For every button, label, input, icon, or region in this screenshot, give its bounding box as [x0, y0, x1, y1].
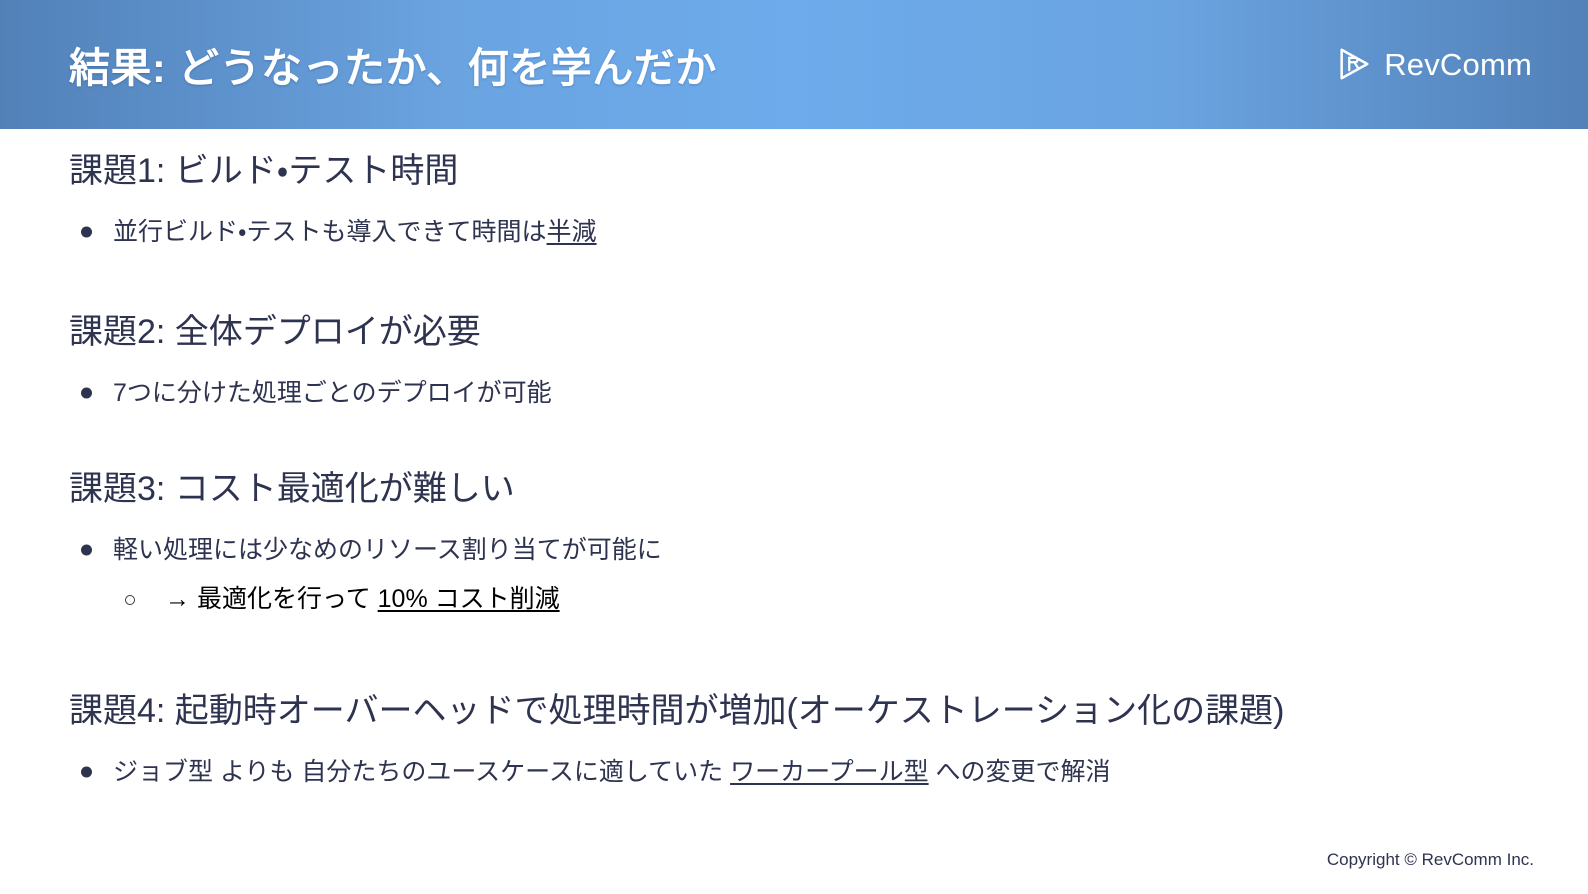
revcomm-play-triangle-icon — [1335, 45, 1373, 83]
bullet-disc-icon — [81, 227, 92, 238]
bullet-text-plain: ジョブ型 よりも 自分たちのユースケースに適していた — [113, 758, 730, 786]
bullet-text-plain: 並行ビルド・テストも導入できて時間は — [113, 218, 547, 246]
section-kadai-1: 課題1: ビルド・テスト時間 並行ビルド・テストも導入できて時間は半減 — [69, 150, 1559, 249]
bullet-disc-icon — [81, 545, 92, 556]
presentation-slide: 結果: どうなったか、何を学んだか RevComm 課題1: ビルド・テスト時間… — [0, 0, 1588, 894]
bullet-list: ジョブ型 よりも 自分たちのユースケースに適していた ワーカープール型 への変更… — [69, 756, 1559, 790]
sub-bullet-text-plain: → 最適化を行って — [165, 585, 378, 613]
bullet-text-plain-tail: への変更で解消 — [929, 758, 1111, 786]
bullet-disc-icon — [81, 767, 92, 778]
list-item: 軽い処理には少なめのリソース割り当てが可能に — [69, 534, 1559, 568]
bullet-text-plain: 7つに分けた処理ごとのデプロイが可能 — [113, 379, 552, 407]
section-kadai-4: 課題4: 起動時オーバーヘッドで処理時間が増加(オーケストレーション化の課題) … — [69, 690, 1559, 789]
bullet-text-underlined: 半減 — [547, 218, 597, 246]
list-item: 並行ビルド・テストも導入できて時間は半減 — [69, 216, 1559, 250]
section-heading: 課題4: 起動時オーバーヘッドで処理時間が増加(オーケストレーション化の課題) — [69, 690, 1559, 733]
copyright-footer: Copyright © RevComm Inc. — [1327, 850, 1534, 870]
section-heading: 課題1: ビルド・テスト時間 — [69, 150, 1559, 193]
bullet-text-underlined: ワーカープール型 — [730, 758, 929, 786]
revcomm-logo: RevComm — [1335, 42, 1532, 86]
revcomm-logo-text: RevComm — [1384, 49, 1532, 80]
bullet-disc-icon — [81, 388, 92, 399]
section-kadai-3: 課題3: コスト最適化が難しい 軽い処理には少なめのリソース割り当てが可能に →… — [69, 468, 1559, 617]
slide-body: 課題1: ビルド・テスト時間 並行ビルド・テストも導入できて時間は半減 課題2:… — [0, 129, 1588, 894]
slide-header-band: 結果: どうなったか、何を学んだか RevComm — [0, 0, 1588, 129]
bullet-circle-icon — [125, 595, 135, 605]
bullet-list: 並行ビルド・テストも導入できて時間は半減 — [69, 216, 1559, 250]
section-kadai-2: 課題2: 全体デプロイが必要 7つに分けた処理ごとのデプロイが可能 — [69, 311, 1559, 410]
list-item: 7つに分けた処理ごとのデプロイが可能 — [69, 377, 1559, 411]
section-heading: 課題3: コスト最適化が難しい — [69, 468, 1559, 511]
list-item: ジョブ型 よりも 自分たちのユースケースに適していた ワーカープール型 への変更… — [69, 756, 1559, 790]
bullet-list: 7つに分けた処理ごとのデプロイが可能 — [69, 377, 1559, 411]
bullet-text-plain: 軽い処理には少なめのリソース割り当てが可能に — [113, 536, 662, 564]
section-heading: 課題2: 全体デプロイが必要 — [69, 311, 1559, 354]
bullet-list: 軽い処理には少なめのリソース割り当てが可能に → 最適化を行って 10% コスト… — [69, 534, 1559, 618]
sub-list-item: → 最適化を行って 10% コスト削減 — [69, 583, 1559, 617]
sub-bullet-text-underlined: 10% コスト削減 — [378, 585, 560, 613]
slide-title: 結果: どうなったか、何を学んだか — [69, 46, 717, 91]
